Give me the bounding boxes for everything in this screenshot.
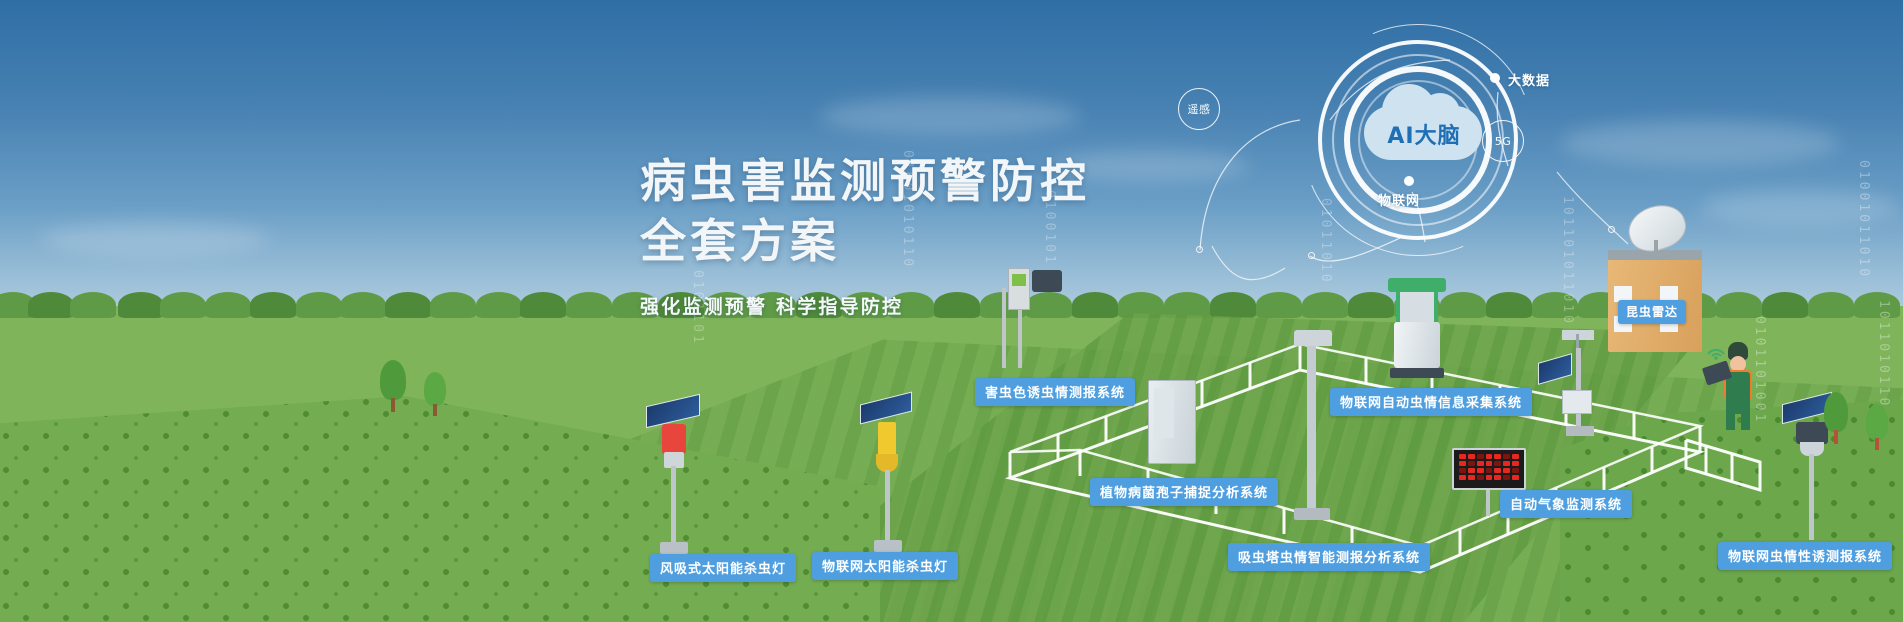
label-plant-spore-capture-system[interactable]: 植物病菌孢子捕捉分析系统 [1090,478,1278,506]
equipment-wind-suction-solar-insect-lamp[interactable] [640,400,720,560]
led-row [1459,475,1519,480]
tower-base [1294,508,1330,520]
collector-roof [1388,278,1446,292]
equipment-iot-auto-pest-collection-system[interactable] [1380,278,1460,388]
node-big-data-label: 大数据 [1508,70,1550,89]
camera-module [1032,270,1062,292]
weather-shelter [1562,390,1592,414]
label-color-lure-pest-forecast-system[interactable]: 害虫色诱虫情测报系统 [975,378,1135,406]
led-row [1459,468,1519,473]
cloud-decor [40,222,270,256]
cloud-decor [820,96,1080,136]
label-auto-weather-monitor-system[interactable]: 自动气象监测系统 [1500,490,1632,518]
node-remote-sensing[interactable]: 遥感 [1178,88,1220,130]
binary-stream: 1011010110 [1876,300,1891,480]
collector-body [1394,322,1440,368]
weather-base [1566,426,1594,436]
led-display-board [1452,448,1526,490]
equipment-plant-spore-capture-system[interactable] [1148,380,1208,470]
wifi-icon [1704,338,1728,360]
weather-pole [1576,348,1581,426]
equipment-color-lure-pest-forecast-system[interactable] [982,268,1072,378]
led-row [1459,461,1519,466]
ai-brain-label: AI大脑 [1366,118,1482,150]
collector-funnel [1396,292,1438,322]
binary-stream: 101101011010 [1560,196,1575,346]
label-insect-radar[interactable]: 昆虫雷达 [1618,300,1686,324]
infographic-scene: 01001010110 0100101 01011010 10110101101… [0,0,1903,622]
lamp-pole [885,470,890,544]
shrub-decor [424,372,446,406]
node-remote-sensing-label: 遥感 [1188,101,1211,117]
worker-leg [1726,408,1735,430]
page-title: 病虫害监测预警防控 全套方案 [640,152,1090,272]
shrub-decor [1866,404,1888,440]
equipment-iot-solar-insect-lamp[interactable] [860,398,930,558]
equipment-insect-radar[interactable] [1600,228,1710,358]
tower-pole [1002,288,1006,368]
label-suction-tower-forecast-system[interactable]: 吸虫塔虫情智能测报分析系统 [1228,543,1430,571]
equipment-suction-tower-forecast-system[interactable] [1288,330,1338,530]
led-board-pole [1486,490,1490,516]
label-iot-pheromone-forecast-system[interactable]: 物联网虫情性诱测报系统 [1718,542,1892,570]
lamp-body [878,422,896,456]
lamp-base [874,540,902,552]
label-iot-solar-insect-lamp[interactable]: 物联网太阳能杀虫灯 [812,552,958,580]
lure-sticky-card [1012,274,1026,286]
solar-panel-icon [1538,353,1572,385]
tower-pole [1018,310,1022,368]
lamp-pole [671,466,676,546]
tower-head [1294,330,1332,346]
collector-base [1390,368,1444,378]
cabinet-door [1154,388,1174,438]
node-big-data-dot[interactable] [1490,73,1500,83]
trap-pole [1809,454,1814,540]
node-iot-label: 物联网 [1378,190,1420,209]
node-5g[interactable]: 5G [1482,120,1524,162]
shrub-decor [380,360,406,400]
node-iot-dot[interactable] [1404,176,1414,186]
node-endpoint-mid [1308,252,1315,259]
label-iot-auto-pest-collection-system[interactable]: 物联网自动虫情信息采集系统 [1330,388,1532,416]
tower-pole [1307,346,1316,508]
cloud-decor [1560,120,1840,166]
node-5g-label: 5G [1495,135,1512,148]
node-endpoint-left [1196,246,1203,253]
led-row [1459,454,1519,459]
radar-dish-mast [1654,240,1658,254]
label-wind-suction-solar-insect-lamp[interactable]: 风吸式太阳能杀虫灯 [650,554,796,582]
field-worker [1702,338,1772,430]
title-line-1: 病虫害监测预警防控 [640,152,1090,212]
title-line-2: 全套方案 [640,212,1090,272]
shrub-decor [1824,392,1848,432]
lamp-body [662,424,686,454]
worker-leg [1741,408,1750,430]
lamp-base [660,542,688,554]
binary-stream: 01001011010 [1856,160,1871,300]
